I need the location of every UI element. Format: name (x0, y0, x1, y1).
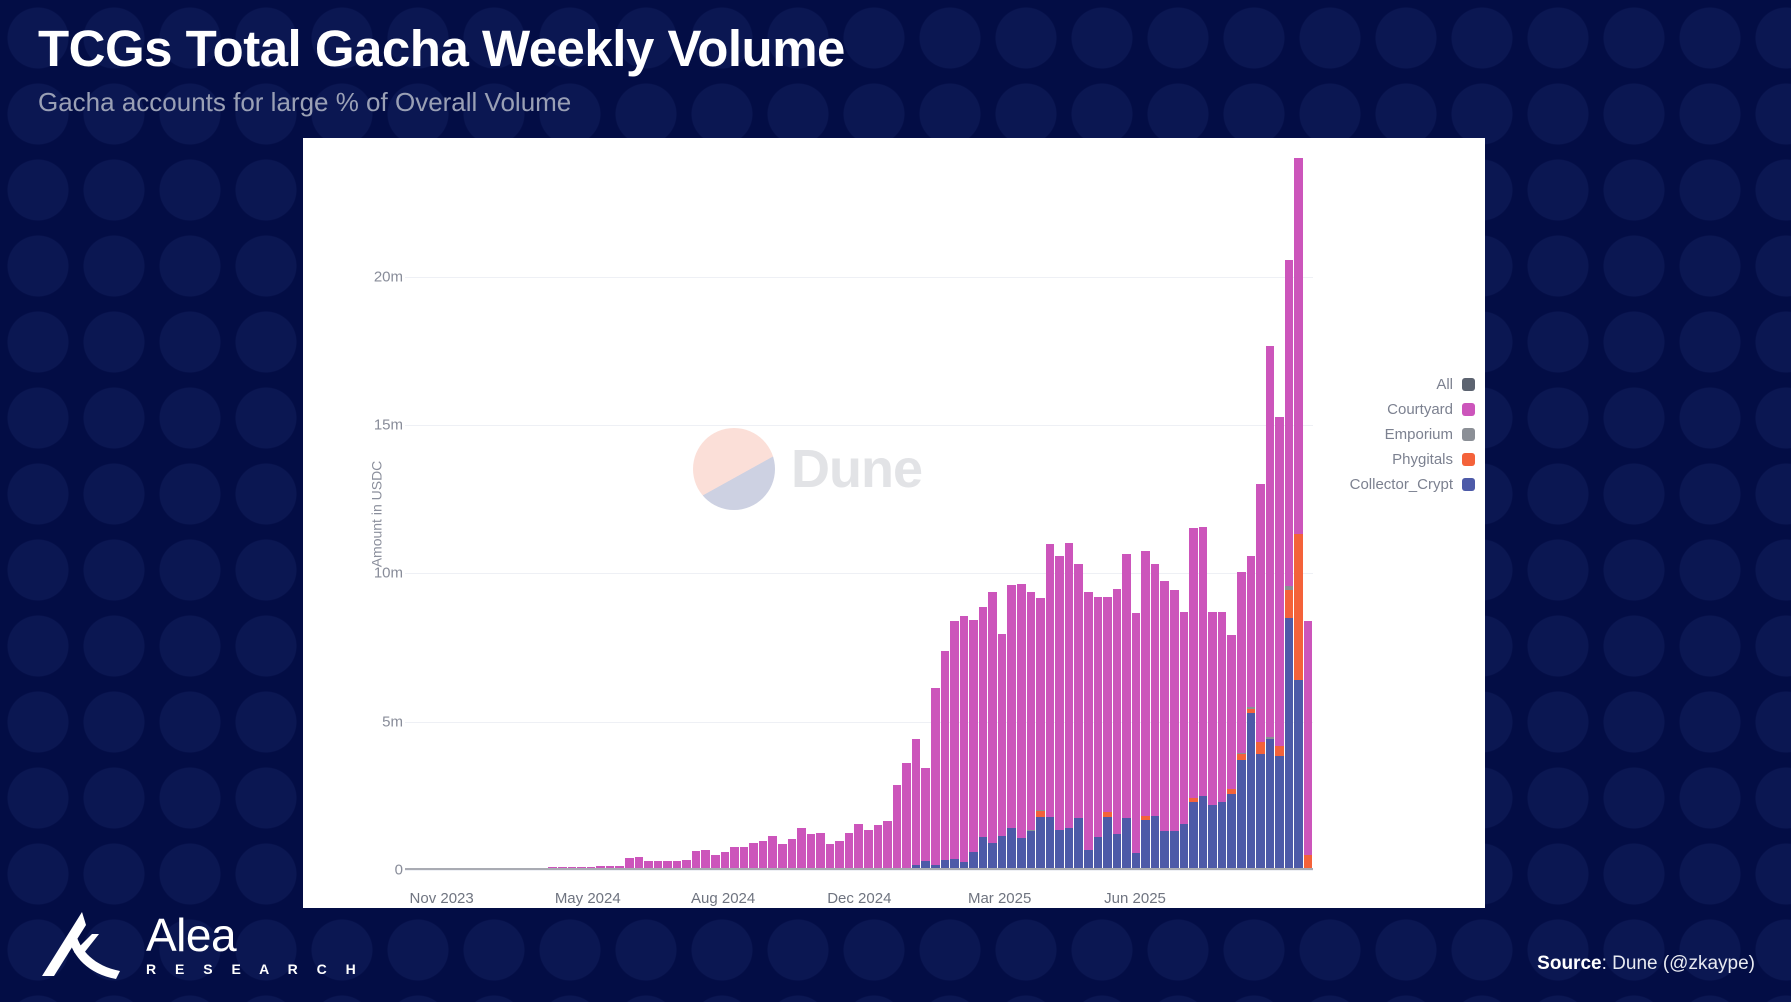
bar-column[interactable] (1208, 158, 1217, 870)
bar-segment-collector_crypt (1294, 680, 1303, 870)
bar-segment-phygitals (1285, 590, 1294, 618)
bar-segment-courtyard (988, 592, 997, 844)
bar-column[interactable] (472, 158, 481, 870)
bar-column[interactable] (434, 158, 443, 870)
bar-segment-collector_crypt (1046, 817, 1055, 870)
bar-column[interactable] (615, 158, 624, 870)
bar-segment-courtyard (1266, 346, 1275, 738)
bar-segment-collector_crypt (1189, 802, 1198, 870)
bar-column[interactable] (931, 158, 940, 870)
chart-legend: AllCourtyardEmporiumPhygitalsCollector_C… (1350, 376, 1475, 493)
x-tick-label: Aug 2024 (691, 890, 755, 907)
legend-item-courtyard[interactable]: Courtyard (1387, 401, 1475, 418)
bar-column[interactable] (768, 158, 777, 870)
bar-column[interactable] (721, 158, 730, 870)
y-tick-label: 15m (363, 417, 403, 434)
bar-segment-courtyard (740, 847, 749, 870)
bar-segment-courtyard (1218, 612, 1227, 802)
bar-column[interactable] (405, 158, 414, 870)
bar-column[interactable] (577, 158, 586, 870)
bar-column[interactable] (568, 158, 577, 870)
bar-segment-collector_crypt (1256, 754, 1265, 870)
bar-segment-courtyard (807, 834, 816, 870)
bar-column[interactable] (969, 158, 978, 870)
y-tick-label: 10m (363, 565, 403, 582)
bar-column[interactable] (1113, 158, 1122, 870)
bar-segment-phygitals (1294, 534, 1303, 680)
bar-segment-courtyard (816, 833, 825, 870)
bar-segment-courtyard (1055, 556, 1064, 830)
legend-item-emporium[interactable]: Emporium (1385, 426, 1475, 443)
bar-column[interactable] (1247, 158, 1256, 870)
bar-column[interactable] (1304, 158, 1313, 870)
bar-segment-courtyard (788, 839, 797, 870)
bar-segment-collector_crypt (1170, 831, 1179, 870)
bar-column[interactable] (491, 158, 500, 870)
bar-segment-courtyard (1074, 564, 1083, 818)
legend-swatch-all (1462, 378, 1475, 391)
x-tick-label: Mar 2025 (968, 890, 1031, 907)
y-tick-label: 0 (363, 862, 403, 879)
bar-segment-courtyard (749, 843, 758, 870)
bar-segment-courtyard (1304, 621, 1313, 855)
bar-column[interactable] (797, 158, 806, 870)
bar-column[interactable] (1017, 158, 1026, 870)
bar-column[interactable] (1074, 158, 1083, 870)
bar-column[interactable] (921, 158, 930, 870)
bar-segment-courtyard (1227, 635, 1236, 789)
source-label: Source (1537, 953, 1601, 974)
bar-segment-collector_crypt (1094, 837, 1103, 870)
bar-segment-collector_crypt (1275, 756, 1284, 870)
bar-column[interactable] (1218, 158, 1227, 870)
bar-column[interactable] (1103, 158, 1112, 870)
bar-segment-courtyard (979, 607, 988, 838)
bar-segment-collector_crypt (1007, 828, 1016, 870)
bar-column[interactable] (1151, 158, 1160, 870)
bar-column[interactable] (539, 158, 548, 870)
source-attribution: Source: Dune (@zkaype) (1537, 953, 1755, 975)
bar-column[interactable] (1122, 158, 1131, 870)
bar-segment-courtyard (835, 841, 844, 870)
bar-segment-courtyard (1027, 592, 1036, 829)
bar-column[interactable] (864, 158, 873, 870)
gridline (405, 870, 1313, 871)
bar-column[interactable] (1237, 158, 1246, 870)
bar-segment-collector_crypt (1141, 820, 1150, 870)
bar-segment-courtyard (1113, 589, 1122, 834)
bar-column[interactable] (644, 158, 653, 870)
bar-segment-collector_crypt (1285, 618, 1294, 870)
bar-segment-collector_crypt (1084, 850, 1093, 870)
bar-segment-collector_crypt (1027, 831, 1036, 870)
bar-column[interactable] (520, 158, 529, 870)
bar-segment-courtyard (883, 821, 892, 870)
bar-column[interactable] (912, 158, 921, 870)
bar-segment-courtyard (941, 651, 950, 860)
bar-column[interactable] (854, 158, 863, 870)
bar-column[interactable] (1189, 158, 1198, 870)
bar-segment-courtyard (768, 836, 777, 870)
header: TCGs Total Gacha Weekly Volume Gacha acc… (38, 20, 845, 118)
bar-column[interactable] (759, 158, 768, 870)
legend-item-label: Courtyard (1387, 401, 1453, 418)
bar-segment-courtyard (1208, 612, 1217, 805)
bar-segment-courtyard (1160, 581, 1169, 832)
legend-swatch-emporium (1462, 428, 1475, 441)
bar-column[interactable] (635, 158, 644, 870)
bar-segment-courtyard (921, 768, 930, 861)
bar-column[interactable] (883, 158, 892, 870)
x-tick-label: May 2024 (555, 890, 621, 907)
bar-segment-courtyard (759, 841, 768, 870)
bar-column[interactable] (1160, 158, 1169, 870)
bar-segment-collector_crypt (1113, 834, 1122, 870)
bar-column[interactable] (988, 158, 997, 870)
bar-segment-phygitals (1256, 742, 1265, 754)
bar-segment-courtyard (1036, 598, 1045, 810)
bar-column[interactable] (1094, 158, 1103, 870)
brand-tagline: R E S E A R C H (146, 961, 363, 977)
bar-column[interactable] (1027, 158, 1036, 870)
bar-column[interactable] (1065, 158, 1074, 870)
page-subtitle: Gacha accounts for large % of Overall Vo… (38, 87, 845, 118)
bar-segment-courtyard (950, 621, 959, 858)
bar-segment-courtyard (1294, 158, 1303, 534)
bar-segment-courtyard (902, 763, 911, 870)
bar-segment-collector_crypt (1227, 794, 1236, 870)
plot-area: Amount in USDC 05m10m15m20m (363, 158, 1313, 870)
y-tick-label: 5m (363, 713, 403, 730)
bar-segment-collector_crypt (1208, 805, 1217, 870)
bar-column[interactable] (788, 158, 797, 870)
bar-segment-courtyard (845, 833, 854, 870)
bar-column[interactable] (826, 158, 835, 870)
bar-column[interactable] (740, 158, 749, 870)
bar-column[interactable] (874, 158, 883, 870)
bar-segment-courtyard (960, 616, 969, 862)
bar-segment-collector_crypt (1247, 713, 1256, 870)
source-value: : Dune (@zkaype) (1602, 953, 1755, 974)
x-tick-label: Nov 2023 (410, 890, 474, 907)
bar-column[interactable] (902, 158, 911, 870)
bar-column[interactable] (625, 158, 634, 870)
bar-column[interactable] (1141, 158, 1150, 870)
bar-segment-collector_crypt (1237, 760, 1246, 870)
y-tick-label: 20m (363, 268, 403, 285)
bar-segment-collector_crypt (1160, 831, 1169, 870)
bar-segment-collector_crypt (1036, 817, 1045, 870)
bar-column[interactable] (673, 158, 682, 870)
x-axis-ticks: Nov 2023May 2024Aug 2024Dec 2024Mar 2025… (363, 890, 1313, 914)
bar-column[interactable] (529, 158, 538, 870)
bar-column[interactable] (845, 158, 854, 870)
bar-column[interactable] (941, 158, 950, 870)
bar-column[interactable] (558, 158, 567, 870)
bar-column[interactable] (960, 158, 969, 870)
brand-logo: Alea R E S E A R C H (36, 908, 363, 980)
bar-column[interactable] (1294, 158, 1303, 870)
bar-column[interactable] (1266, 158, 1275, 870)
bar-segment-courtyard (730, 847, 739, 870)
bar-segment-collector_crypt (1017, 838, 1026, 870)
bar-segment-collector_crypt (1199, 796, 1208, 870)
bar-column[interactable] (606, 158, 615, 870)
bar-segment-courtyard (1256, 484, 1265, 742)
bar-segment-courtyard (854, 824, 863, 870)
bar-column[interactable] (950, 158, 959, 870)
bar-segment-courtyard (1132, 613, 1141, 853)
legend-swatch-courtyard (1462, 403, 1475, 416)
bar-segment-collector_crypt (1055, 830, 1064, 870)
bar-column[interactable] (462, 158, 471, 870)
bar-segment-courtyard (1046, 544, 1055, 817)
bar-segment-collector_crypt (1074, 818, 1083, 871)
y-axis-ticks: 05m10m15m20m (355, 158, 403, 870)
bar-column[interactable] (1007, 158, 1016, 870)
bar-segment-courtyard (1170, 590, 1179, 830)
bar-column[interactable] (835, 158, 844, 870)
bar-column[interactable] (424, 158, 433, 870)
bar-segment-courtyard (931, 688, 940, 865)
bar-segment-collector_crypt (1065, 828, 1074, 870)
bar-column[interactable] (510, 158, 519, 870)
bar-segment-courtyard (998, 634, 1007, 836)
bar-segment-collector_crypt (988, 843, 997, 870)
bar-segment-courtyard (864, 830, 873, 870)
x-tick-label: Dec 2024 (827, 890, 891, 907)
chart-panel: Dune Amount in USDC 05m10m15m20m Nov 202… (303, 138, 1485, 908)
bar-segment-courtyard (912, 739, 921, 865)
bar-segment-courtyard (778, 844, 787, 870)
bar-column[interactable] (1170, 158, 1179, 870)
bar-column[interactable] (548, 158, 557, 870)
bar-column[interactable] (453, 158, 462, 870)
bar-column[interactable] (587, 158, 596, 870)
bar-column[interactable] (1199, 158, 1208, 870)
bar-segment-courtyard (1237, 572, 1246, 753)
bar-column[interactable] (1055, 158, 1064, 870)
bar-column[interactable] (701, 158, 710, 870)
bar-segment-courtyard (1285, 260, 1294, 586)
bar-column[interactable] (1084, 158, 1093, 870)
bar-segment-collector_crypt (979, 837, 988, 870)
bar-column[interactable] (663, 158, 672, 870)
bar-column[interactable] (682, 158, 691, 870)
bar-segment-collector_crypt (1180, 824, 1189, 870)
legend-item-all[interactable]: All (1436, 376, 1475, 393)
bar-column[interactable] (501, 158, 510, 870)
slide-root: TCGs Total Gacha Weekly Volume Gacha acc… (0, 0, 1791, 1002)
bar-segment-collector_crypt (998, 836, 1007, 870)
bar-segment-courtyard (1247, 556, 1256, 707)
bar-column[interactable] (443, 158, 452, 870)
legend-item-label: All (1436, 376, 1453, 393)
bar-segment-courtyard (1189, 528, 1198, 798)
bar-column[interactable] (893, 158, 902, 870)
bar-segment-courtyard (1180, 612, 1189, 824)
bar-segment-courtyard (1017, 584, 1026, 838)
legend-item-label: Collector_Crypt (1350, 476, 1453, 493)
bar-column[interactable] (807, 158, 816, 870)
bar-segment-courtyard (1141, 551, 1150, 816)
bar-column[interactable] (816, 158, 825, 870)
bar-segment-phygitals (1275, 746, 1284, 756)
bar-segment-courtyard (826, 844, 835, 870)
bar-segment-courtyard (893, 785, 902, 870)
bar-column[interactable] (778, 158, 787, 870)
alea-mark-icon (36, 908, 128, 980)
bar-segment-collector_crypt (1218, 802, 1227, 870)
bar-column[interactable] (730, 158, 739, 870)
brand-name: Alea (146, 912, 363, 958)
bar-column[interactable] (1256, 158, 1265, 870)
bar-column[interactable] (1036, 158, 1045, 870)
bar-column[interactable] (1132, 158, 1141, 870)
bar-segment-courtyard (1275, 417, 1284, 746)
legend-item-collector_crypt[interactable]: Collector_Crypt (1350, 476, 1475, 493)
x-tick-label: Jun 2025 (1104, 890, 1166, 907)
bar-column[interactable] (979, 158, 988, 870)
bar-column[interactable] (1046, 158, 1055, 870)
bar-column[interactable] (596, 158, 605, 870)
legend-item-label: Phygitals (1392, 451, 1453, 468)
bar-segment-courtyard (1103, 597, 1112, 812)
bar-column[interactable] (1275, 158, 1284, 870)
legend-item-phygitals[interactable]: Phygitals (1392, 451, 1475, 468)
bar-column[interactable] (711, 158, 720, 870)
bar-series-container (405, 158, 1313, 870)
bar-segment-collector_crypt (1103, 817, 1112, 870)
bar-segment-collector_crypt (1151, 816, 1160, 870)
page-title: TCGs Total Gacha Weekly Volume (38, 20, 845, 77)
legend-swatch-phygitals (1462, 453, 1475, 466)
bar-segment-courtyard (969, 620, 978, 852)
bar-column[interactable] (1285, 158, 1294, 870)
bar-segment-collector_crypt (1266, 739, 1275, 870)
bar-column[interactable] (1227, 158, 1236, 870)
x-axis-baseline (405, 868, 1313, 870)
bar-column[interactable] (482, 158, 491, 870)
bar-segment-courtyard (1065, 543, 1074, 828)
bar-segment-courtyard (1122, 554, 1131, 818)
legend-swatch-collector-crypt (1462, 478, 1475, 491)
bar-segment-courtyard (1151, 564, 1160, 816)
bar-column[interactable] (998, 158, 1007, 870)
legend-item-label: Emporium (1385, 426, 1453, 443)
bar-column[interactable] (1180, 158, 1189, 870)
bar-segment-courtyard (1084, 592, 1093, 850)
bar-segment-courtyard (797, 828, 806, 870)
bar-segment-courtyard (1199, 527, 1208, 795)
bar-column[interactable] (692, 158, 701, 870)
bar-segment-courtyard (874, 825, 883, 869)
bar-segment-collector_crypt (1122, 818, 1131, 870)
bar-column[interactable] (415, 158, 424, 870)
bar-column[interactable] (749, 158, 758, 870)
bar-segment-courtyard (1094, 597, 1103, 837)
bar-segment-courtyard (1007, 585, 1016, 829)
brand-text: Alea R E S E A R C H (146, 912, 363, 977)
bar-column[interactable] (654, 158, 663, 870)
